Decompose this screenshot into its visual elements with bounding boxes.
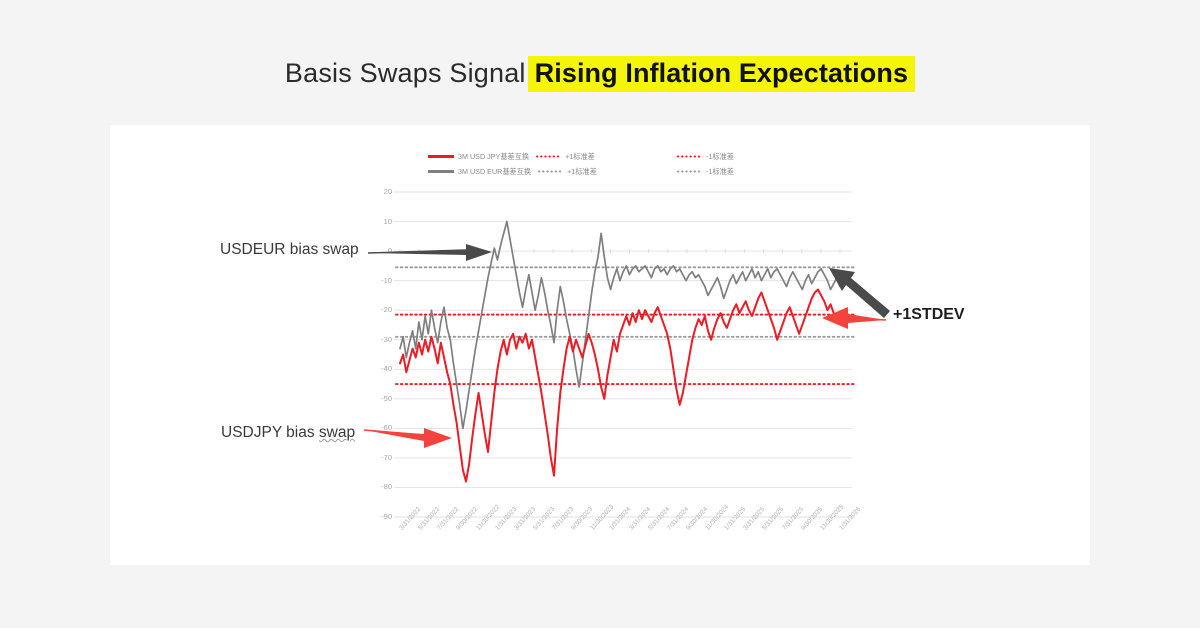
screenshot-root: Basis Swaps SignalRising Inflation Expec… xyxy=(0,0,1200,628)
y-axis-label--20: -20 xyxy=(366,305,392,314)
chart-card: 3M USD JPY基差互换 +1标准差 3M USD EUR基差互换 +1标准… xyxy=(110,125,1090,565)
y-axis-label--30: -30 xyxy=(366,335,392,344)
page-title-plain: Basis Swaps Signal xyxy=(285,58,526,88)
y-axis-label-20: 20 xyxy=(366,187,392,196)
y-axis-label-0: 0 xyxy=(366,246,392,255)
y-axis-label--90: -90 xyxy=(366,512,392,521)
chart-plot-area: 20100-10-20-30-40-50-60-70-80-90 3/31/20… xyxy=(110,125,1090,565)
page-title: Basis Swaps SignalRising Inflation Expec… xyxy=(0,58,1200,89)
usdeur-callout-label: USDEUR bias swap xyxy=(220,241,359,259)
usdjpy-callout-text-a: USDJPY bias xyxy=(221,424,319,441)
chart-svg xyxy=(110,125,1090,565)
page-title-highlight: Rising Inflation Expectations xyxy=(528,56,915,92)
y-axis-label--70: -70 xyxy=(366,453,392,462)
y-axis-label--50: -50 xyxy=(366,394,392,403)
y-axis-label--80: -80 xyxy=(366,482,392,491)
y-axis-label--10: -10 xyxy=(366,276,392,285)
usdjpy-callout-label: USDJPY bias swap xyxy=(221,424,355,442)
y-axis-label--40: -40 xyxy=(366,364,392,373)
y-axis-label-10: 10 xyxy=(366,217,392,226)
series-line-jpy xyxy=(400,290,834,482)
stdev-callout-label: +1STDEV xyxy=(893,306,965,324)
y-axis-label--60: -60 xyxy=(366,423,392,432)
usdjpy-callout-misspelled: swap xyxy=(319,424,355,441)
